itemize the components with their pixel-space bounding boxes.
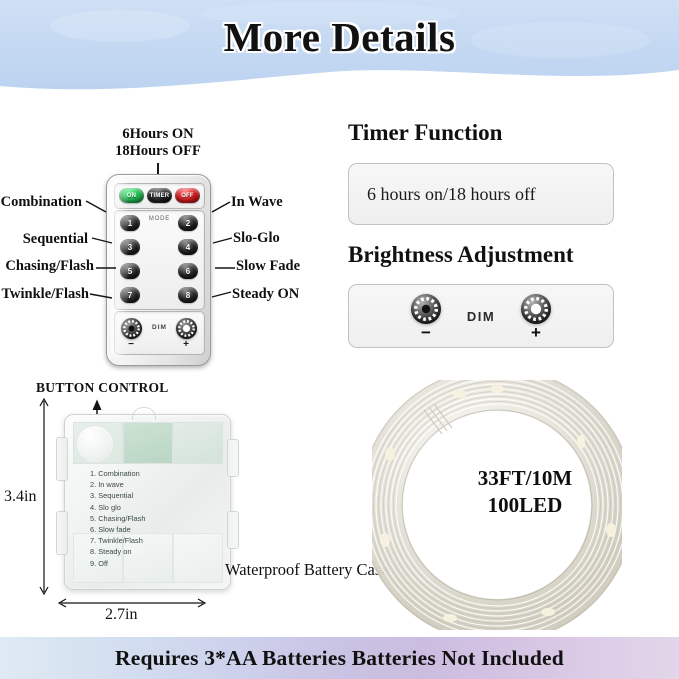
waterproof-case-caption: Waterproof Battery Case [225, 560, 389, 580]
case-mode-item: 6. Slow fade [90, 524, 145, 535]
footer-banner: Requires 3*AA Batteries Batteries Not In… [0, 637, 679, 679]
coil-specs: 33FT/10M 100LED [400, 465, 650, 519]
brightness-box: DIM − + [348, 284, 614, 348]
remote-label-steady-on: Steady ON [232, 286, 299, 303]
case-mode-item: 1. Combination [90, 468, 145, 479]
case-mode-item: 5. Chasing/Flash [90, 513, 145, 524]
case-mode-item: 8. Steady on [90, 546, 145, 557]
remote-label-slo-glo: Slo-Glo [233, 230, 280, 247]
case-compartment-6 [173, 533, 223, 583]
timer-caption-line2: 18Hours OFF [115, 143, 201, 159]
case-mode-item: 7. Twinkle/Flash [90, 535, 145, 546]
timer-function-box: 6 hours on/18 hours off [348, 163, 614, 225]
gear-icon [176, 318, 197, 339]
case-width-dimension: 2.7in [105, 606, 137, 624]
button-control-label: BUTTON CONTROL [36, 380, 169, 396]
coil-led-count: 100LED [488, 493, 563, 517]
case-power-button[interactable] [76, 425, 114, 463]
remote-label-combination: Combination [1, 194, 82, 211]
brightness-up-wheel-icon[interactable] [521, 294, 551, 324]
case-latch-left-top [56, 437, 68, 481]
remote-timer-caption: 6Hours ON 18Hours OFF [88, 126, 228, 160]
remote-on-button[interactable]: ON [119, 188, 144, 203]
brightness-heading: Brightness Adjustment [348, 242, 574, 268]
mode-button-7[interactable]: 7 [120, 287, 140, 303]
remote-label-in-wave: In Wave [231, 194, 283, 211]
remote-top-panel: ON TIMER OFF [114, 183, 205, 209]
remote-label-sequential: Sequential [23, 231, 88, 248]
battery-case: 1. Combination 2. In wave 3. Sequential … [64, 414, 231, 590]
case-compartment-2 [123, 422, 173, 464]
footer-text: Requires 3*AA Batteries Batteries Not In… [0, 637, 679, 679]
case-mode-item: 2. In wave [90, 479, 145, 490]
mode-button-4[interactable]: 4 [178, 239, 198, 255]
mode-button-2[interactable]: 2 [178, 215, 198, 231]
case-latch-right-top [227, 439, 239, 477]
mode-button-5[interactable]: 5 [120, 263, 140, 279]
remote-mode-panel: MODE 1 2 3 4 5 6 7 8 [114, 210, 205, 310]
case-compartment-3 [173, 422, 223, 464]
case-hang-loop [132, 407, 156, 420]
case-mode-item: 4. Slo glo [90, 502, 145, 513]
gear-icon [521, 294, 551, 324]
remote-off-button[interactable]: OFF [175, 188, 200, 203]
case-height-dimension: 3.4in [4, 488, 36, 506]
case-mode-item: 9. Off [90, 558, 145, 569]
brightness-dim-label: DIM [349, 285, 613, 347]
case-latch-left-bottom [56, 511, 68, 555]
brightness-minus-sign: − [413, 326, 439, 340]
case-latch-right-bottom [227, 511, 239, 549]
timer-caption-line1: 6Hours ON [122, 126, 193, 142]
remote-label-twinkle-flash: Twinkle/Flash [1, 286, 89, 303]
remote-dim-panel: DIM − + [114, 311, 205, 355]
infographic-page: More Details 6Hours ON 18Hours OFF ON TI… [0, 0, 679, 679]
coil-length: 33FT/10M [478, 466, 573, 490]
remote-timer-button[interactable]: TIMER [147, 188, 172, 203]
header-banner: More Details [0, 0, 679, 96]
remote-plus-sign: + [175, 340, 197, 350]
brightness-plus-sign: + [523, 326, 549, 340]
remote-label-slow-fade: Slow Fade [236, 258, 300, 275]
remote-minus-sign: − [120, 340, 142, 350]
mode-button-8[interactable]: 8 [178, 287, 198, 303]
mode-button-1[interactable]: 1 [120, 215, 140, 231]
mode-button-6[interactable]: 6 [178, 263, 198, 279]
timer-function-value: 6 hours on/18 hours off [367, 164, 536, 224]
timer-function-heading: Timer Function [348, 120, 502, 146]
dim-up-wheel-icon[interactable] [176, 318, 197, 339]
mode-button-3[interactable]: 3 [120, 239, 140, 255]
case-mode-list: 1. Combination 2. In wave 3. Sequential … [90, 468, 145, 569]
page-title: More Details [0, 13, 679, 61]
remote-label-chasing-flash: Chasing/Flash [5, 258, 94, 275]
remote-control: ON TIMER OFF MODE 1 2 3 4 5 6 7 8 [106, 174, 211, 366]
case-mode-item: 3. Sequential [90, 490, 145, 501]
